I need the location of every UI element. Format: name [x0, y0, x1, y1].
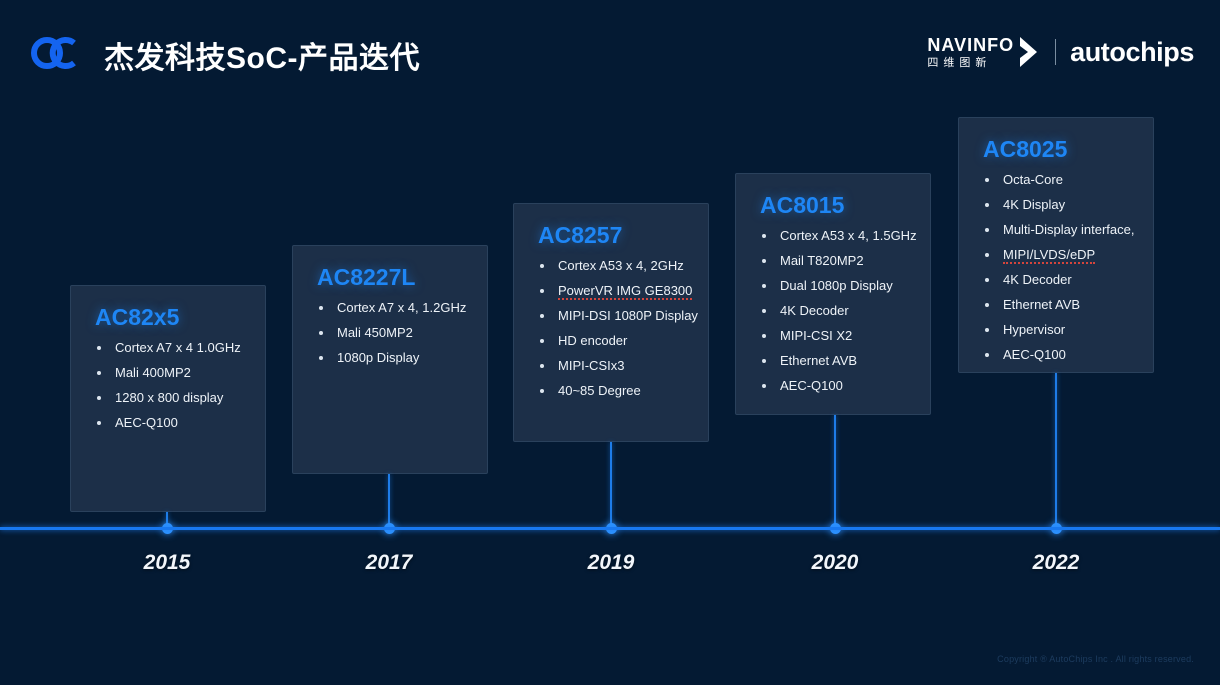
soc-spec-item: Cortex A7 x 4, 1.2GHz [315, 300, 477, 315]
autochips-wordmark: autochips [1070, 37, 1194, 68]
soc-spec-text: AEC-Q100 [1003, 347, 1066, 362]
timeline-axis [0, 527, 1220, 530]
soc-spec-text: Cortex A7 x 4, 1.2GHz [337, 300, 466, 315]
soc-spec-text: MIPI-DSI 1080P Display [558, 308, 698, 323]
soc-spec-list: Cortex A7 x 4 1.0GHzMali 400MP21280 x 80… [93, 340, 255, 440]
chevron-right-icon [1017, 34, 1041, 70]
timeline-year-label: 2015 [144, 551, 191, 575]
soc-spec-text: 1080p Display [337, 350, 419, 365]
soc-spec-item: 1080p Display [315, 350, 477, 365]
soc-spec-text: 40~85 Degree [558, 383, 641, 398]
soc-card-ac8257[interactable]: AC8257Cortex A53 x 4, 2GHzPowerVR IMG GE… [513, 203, 709, 442]
soc-spec-item: Cortex A7 x 4 1.0GHz [93, 340, 255, 355]
soc-spec-item: 4K Display [981, 197, 1143, 212]
soc-spec-text: Dual 1080p Display [780, 278, 893, 293]
soc-spec-item: 40~85 Degree [536, 383, 698, 398]
soc-card-ac82x5[interactable]: AC82x5Cortex A7 x 4 1.0GHzMali 400MP2128… [70, 285, 266, 512]
soc-spec-item: 4K Decoder [981, 272, 1143, 287]
soc-spec-text: Cortex A7 x 4 1.0GHz [115, 340, 241, 355]
soc-spec-text: PowerVR IMG GE8300 [558, 283, 692, 300]
soc-spec-text: Multi-Display interface, [1003, 222, 1135, 237]
soc-spec-text: AEC-Q100 [115, 415, 178, 430]
soc-spec-item: Multi-Display interface, [981, 222, 1143, 237]
oc-logo-icon [30, 36, 86, 70]
soc-spec-item: MIPI-CSIx3 [536, 358, 698, 373]
soc-spec-item: Hypervisor [981, 322, 1143, 337]
soc-spec-text: Ethernet AVB [780, 353, 857, 368]
soc-spec-item: Mali 450MP2 [315, 325, 477, 340]
soc-spec-item: Mali 400MP2 [93, 365, 255, 380]
navinfo-wordmark: NAVINFO [927, 36, 1014, 54]
footer-copyright: Copyright ® AutoChips Inc . All rights r… [997, 654, 1194, 664]
soc-spec-item: AEC-Q100 [93, 415, 255, 430]
soc-card-ac8227l[interactable]: AC8227LCortex A7 x 4, 1.2GHzMali 450MP21… [292, 245, 488, 474]
soc-spec-list: Cortex A53 x 4, 1.5GHzMail T820MP2Dual 1… [758, 228, 920, 403]
page-title: 杰发科技SoC-产品迭代 [104, 33, 420, 77]
corporate-logos: NAVINFO 四维图新 autochips [927, 27, 1194, 77]
soc-spec-item: Cortex A53 x 4, 1.5GHz [758, 228, 920, 243]
soc-spec-text: Octa-Core [1003, 172, 1063, 187]
soc-spec-item: Dual 1080p Display [758, 278, 920, 293]
soc-spec-text: Hypervisor [1003, 322, 1065, 337]
navinfo-chinese-name: 四维图新 [927, 57, 991, 68]
timeline-connector [388, 474, 390, 529]
soc-spec-item: 1280 x 800 display [93, 390, 255, 405]
soc-spec-item: Ethernet AVB [758, 353, 920, 368]
soc-spec-list: Cortex A7 x 4, 1.2GHzMali 450MP21080p Di… [315, 300, 477, 375]
soc-spec-text: Mail T820MP2 [780, 253, 864, 268]
soc-spec-list: Cortex A53 x 4, 2GHzPowerVR IMG GE8300MI… [536, 258, 698, 408]
soc-spec-item: MIPI-DSI 1080P Display [536, 308, 698, 323]
timeline-connector [1055, 373, 1057, 529]
soc-spec-item: 4K Decoder [758, 303, 920, 318]
soc-spec-text: AEC-Q100 [780, 378, 843, 393]
timeline-year-label: 2017 [366, 551, 413, 575]
soc-spec-item: MIPI/LVDS/eDP [981, 247, 1143, 262]
soc-card-ac8025[interactable]: AC8025Octa-Core4K DisplayMulti-Display i… [958, 117, 1154, 373]
timeline-year-label: 2019 [588, 551, 635, 575]
soc-spec-text: Cortex A53 x 4, 2GHz [558, 258, 684, 273]
timeline-year-label: 2020 [812, 551, 859, 575]
soc-spec-text: Cortex A53 x 4, 1.5GHz [780, 228, 917, 243]
soc-card-title: AC8015 [760, 192, 844, 219]
soc-spec-item: MIPI-CSI X2 [758, 328, 920, 343]
timeline-year-label: 2022 [1033, 551, 1080, 575]
timeline-connector [610, 442, 612, 529]
soc-card-title: AC8025 [983, 136, 1067, 163]
soc-spec-text: Ethernet AVB [1003, 297, 1080, 312]
soc-spec-item: AEC-Q100 [981, 347, 1143, 362]
soc-spec-text: MIPI-CSI X2 [780, 328, 852, 343]
soc-card-title: AC8227L [317, 264, 415, 291]
soc-spec-text: 1280 x 800 display [115, 390, 223, 405]
soc-spec-text: 4K Decoder [1003, 272, 1072, 287]
soc-spec-item: PowerVR IMG GE8300 [536, 283, 698, 298]
timeline-connector [834, 415, 836, 529]
soc-spec-item: Cortex A53 x 4, 2GHz [536, 258, 698, 273]
navinfo-logo: NAVINFO 四维图新 [927, 34, 1041, 70]
soc-spec-item: Octa-Core [981, 172, 1143, 187]
soc-spec-list: Octa-Core4K DisplayMulti-Display interfa… [981, 172, 1143, 372]
soc-spec-text: Mali 450MP2 [337, 325, 413, 340]
soc-spec-text: MIPI-CSIx3 [558, 358, 624, 373]
page-header: 杰发科技SoC-产品迭代 NAVINFO 四维图新 autochips [0, 0, 1220, 105]
soc-spec-item: AEC-Q100 [758, 378, 920, 393]
soc-spec-text: 4K Display [1003, 197, 1065, 212]
logo-divider [1055, 39, 1056, 65]
soc-spec-text: MIPI/LVDS/eDP [1003, 247, 1095, 264]
soc-card-title: AC8257 [538, 222, 622, 249]
soc-spec-item: HD encoder [536, 333, 698, 348]
soc-spec-text: HD encoder [558, 333, 627, 348]
soc-card-ac8015[interactable]: AC8015Cortex A53 x 4, 1.5GHzMail T820MP2… [735, 173, 931, 415]
soc-spec-text: Mali 400MP2 [115, 365, 191, 380]
soc-card-title: AC82x5 [95, 304, 179, 331]
soc-spec-text: 4K Decoder [780, 303, 849, 318]
soc-spec-item: Ethernet AVB [981, 297, 1143, 312]
soc-spec-item: Mail T820MP2 [758, 253, 920, 268]
